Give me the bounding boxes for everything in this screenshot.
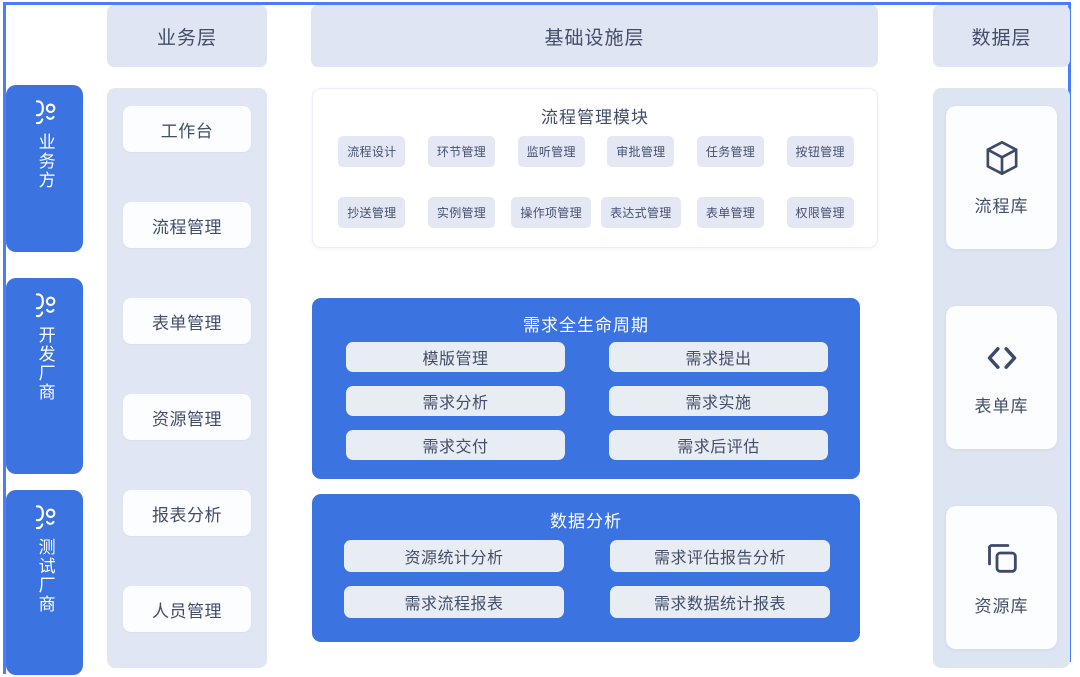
business-item-label: 流程管理: [152, 213, 222, 238]
repository-label: 资源库: [975, 592, 1029, 617]
business-item-workbench[interactable]: 工作台: [123, 106, 251, 152]
business-item-form-management[interactable]: 表单管理: [123, 298, 251, 344]
lifecycle-panel-title: 需求全生命周期: [312, 311, 860, 336]
header-infrastructure-layer-label: 基础设施层: [544, 23, 644, 50]
lifecycle-chip[interactable]: 需求提出: [609, 342, 828, 372]
business-item-label: 表单管理: [152, 309, 222, 334]
business-item-label: 人员管理: [152, 597, 222, 622]
lifecycle-chip[interactable]: 需求后评估: [609, 430, 828, 460]
repository-card-resource-library[interactable]: 资源库: [946, 506, 1057, 649]
process-tag[interactable]: 环节管理: [428, 136, 495, 167]
process-tag[interactable]: 按钮管理: [787, 136, 854, 167]
actor-label: 开发厂商: [32, 326, 56, 402]
analysis-chip-grid: 资源统计分析 需求评估报告分析 需求流程报表 需求数据统计报表: [344, 540, 830, 618]
analysis-chip[interactable]: 需求评估报告分析: [610, 540, 830, 572]
lifecycle-chip[interactable]: 需求分析: [346, 386, 565, 416]
analysis-chip[interactable]: 资源统计分析: [344, 540, 564, 572]
data-analysis-panel: 数据分析 资源统计分析 需求评估报告分析 需求流程报表 需求数据统计报表: [312, 494, 860, 642]
process-tag[interactable]: 权限管理: [787, 197, 854, 228]
header-business-layer-label: 业务层: [157, 23, 217, 50]
users-icon: [30, 500, 60, 534]
users-icon: [30, 95, 60, 129]
lifecycle-chip[interactable]: 模版管理: [346, 342, 565, 372]
actor-card-dev-vendor[interactable]: 开发厂商: [6, 278, 83, 474]
repository-label: 表单库: [975, 392, 1029, 417]
users-icon: [30, 288, 60, 322]
process-tag[interactable]: 监听管理: [518, 136, 585, 167]
actor-label: 业务方: [32, 133, 56, 190]
actor-card-business-side[interactable]: 业务方: [6, 85, 83, 252]
business-layer-column: 工作台 流程管理 表单管理 资源管理 报表分析 人员管理: [107, 88, 267, 668]
process-tag[interactable]: 表单管理: [697, 197, 764, 228]
repository-card-form-library[interactable]: 表单库: [946, 306, 1057, 449]
header-data-layer: 数据层: [933, 5, 1070, 67]
lifecycle-chip[interactable]: 需求交付: [346, 430, 565, 460]
actor-label: 测试厂商: [32, 538, 56, 614]
copy-squares-icon: [982, 538, 1022, 578]
business-item-label: 报表分析: [152, 501, 222, 526]
business-item-report-analysis[interactable]: 报表分析: [123, 490, 251, 536]
business-item-personnel-management[interactable]: 人员管理: [123, 586, 251, 632]
repository-card-process-library[interactable]: 流程库: [946, 106, 1057, 249]
data-layer-column: 流程库 表单库 资源库: [933, 88, 1070, 668]
lifecycle-chip[interactable]: 需求实施: [609, 386, 828, 416]
architecture-diagram: 业务层 基础设施层 数据层 业务方 开发厂商 测试厂商: [0, 0, 1080, 677]
business-item-label: 资源管理: [152, 405, 222, 430]
process-module-tag-grid: 流程设计 环节管理 监听管理 审批管理 任务管理 按钮管理 抄送管理 实例管理 …: [329, 136, 863, 228]
process-tag[interactable]: 流程设计: [338, 136, 405, 167]
analysis-chip[interactable]: 需求流程报表: [344, 586, 564, 618]
business-item-resource-management[interactable]: 资源管理: [123, 394, 251, 440]
process-module-title: 流程管理模块: [313, 103, 877, 128]
lifecycle-chip-grid: 模版管理 需求提出 需求分析 需求实施 需求交付 需求后评估: [346, 342, 828, 460]
analysis-panel-title: 数据分析: [312, 507, 860, 532]
process-tag[interactable]: 操作项管理: [511, 197, 591, 228]
process-tag[interactable]: 任务管理: [697, 136, 764, 167]
header-data-layer-label: 数据层: [971, 23, 1031, 50]
code-brackets-icon: [982, 338, 1022, 378]
business-item-label: 工作台: [161, 117, 214, 142]
cube-icon: [982, 138, 1022, 178]
analysis-chip[interactable]: 需求数据统计报表: [610, 586, 830, 618]
repository-label: 流程库: [975, 192, 1029, 217]
business-item-process-management[interactable]: 流程管理: [123, 202, 251, 248]
actor-card-test-vendor[interactable]: 测试厂商: [6, 490, 83, 675]
process-tag[interactable]: 抄送管理: [338, 197, 405, 228]
requirement-lifecycle-panel: 需求全生命周期 模版管理 需求提出 需求分析 需求实施 需求交付 需求后评估: [312, 298, 860, 479]
process-management-module-card: 流程管理模块 流程设计 环节管理 监听管理 审批管理 任务管理 按钮管理 抄送管…: [312, 88, 878, 248]
process-tag[interactable]: 审批管理: [607, 136, 674, 167]
header-infrastructure-layer: 基础设施层: [311, 5, 878, 67]
process-tag[interactable]: 表达式管理: [601, 197, 681, 228]
header-business-layer: 业务层: [107, 5, 267, 67]
process-tag[interactable]: 实例管理: [428, 197, 495, 228]
